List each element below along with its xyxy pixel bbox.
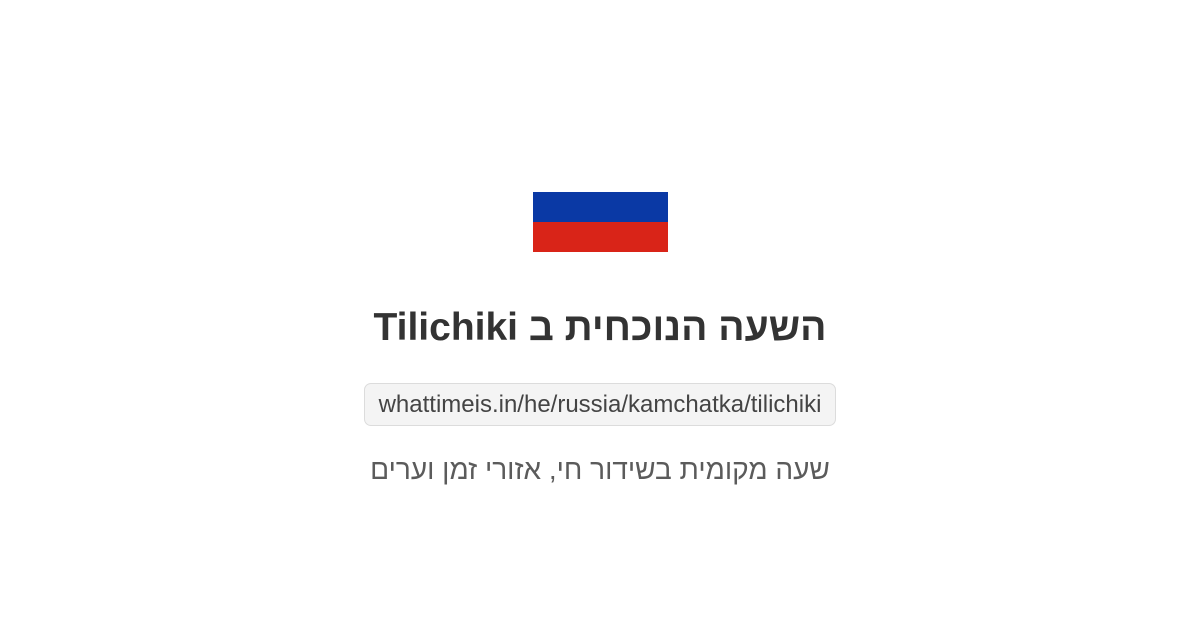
url-text: whattimeis.in/he/russia/kamchatka/tilich… bbox=[379, 391, 822, 419]
flag-white-stripe-icon bbox=[533, 162, 668, 192]
page-subtitle: שעה מקומית בשידור חי, אזורי זמן וערים bbox=[370, 452, 830, 488]
flag-blue-stripe-icon bbox=[533, 192, 668, 222]
russia-flag bbox=[533, 162, 668, 252]
page-title: השעה הנוכחית ב Tilichiki bbox=[374, 305, 827, 351]
flag-red-stripe-icon bbox=[533, 222, 668, 252]
page-container: השעה הנוכחית ב Tilichiki whattimeis.in/h… bbox=[0, 0, 1200, 630]
flag-graphic bbox=[533, 162, 668, 252]
url-pill[interactable]: whattimeis.in/he/russia/kamchatka/tilich… bbox=[364, 383, 837, 426]
